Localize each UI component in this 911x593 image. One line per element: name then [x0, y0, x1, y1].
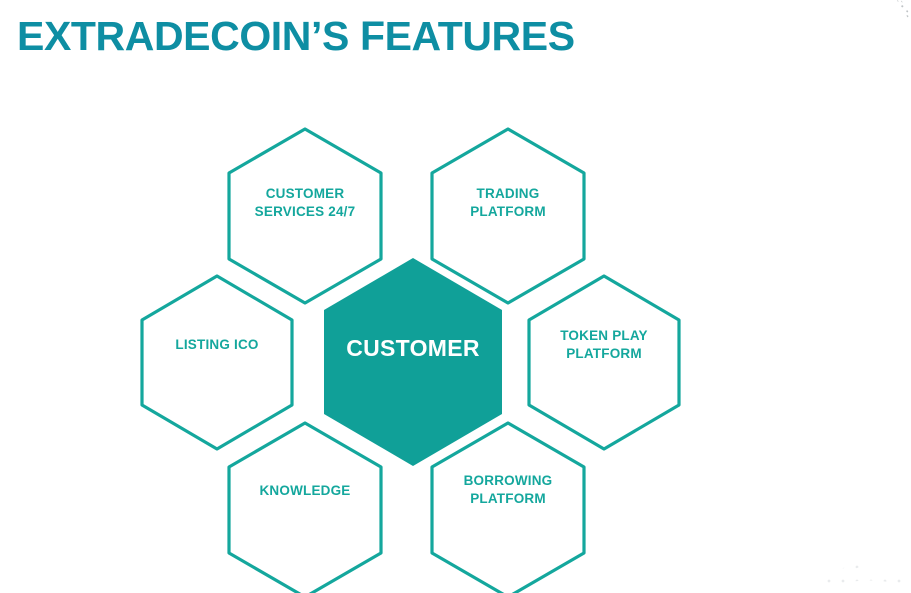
hex-node-label-line1: TRADING — [477, 186, 540, 201]
hex-node-label-line2: PLATFORM — [470, 491, 546, 506]
hex-node-label-line1: KNOWLEDGE — [259, 483, 350, 498]
hex-node-label-line2: PLATFORM — [566, 346, 642, 361]
hexagon-shape — [229, 423, 381, 593]
hex-node-customer-services[interactable]: CUSTOMER SERVICES 24/7 — [229, 129, 381, 303]
hexagon-shape-filled — [324, 258, 502, 466]
hex-node-label-line1: LISTING ICO — [175, 337, 258, 352]
slide-canvas: EXTRADECOIN’S FEATURES CUSTOMER SERVICES… — [0, 0, 911, 593]
hex-node-knowledge[interactable]: KNOWLEDGE — [229, 423, 381, 593]
hexagon-shape — [432, 423, 584, 593]
hex-node-token-play-platform[interactable]: TOKEN PLAY PLATFORM — [529, 276, 679, 449]
hexagon-shape — [529, 276, 679, 449]
hex-node-label-line1: TOKEN PLAY — [560, 328, 648, 343]
hex-node-customer-center[interactable]: CUSTOMER — [324, 258, 502, 466]
hex-node-label-line1: CUSTOMER — [266, 186, 345, 201]
hex-node-borrowing-platform[interactable]: BORROWING PLATFORM — [432, 423, 584, 593]
hexagon-shape — [142, 276, 292, 449]
hex-node-label-line2: PLATFORM — [470, 204, 546, 219]
hex-center-label: CUSTOMER — [346, 335, 480, 361]
features-hexagon-diagram: CUSTOMER SERVICES 24/7 TRADING PLATFORM … — [0, 0, 911, 593]
hex-node-label-line2: SERVICES 24/7 — [255, 204, 356, 219]
hex-node-label-line1: BORROWING — [464, 473, 553, 488]
hex-node-listing-ico[interactable]: LISTING ICO — [142, 276, 292, 449]
hex-node-trading-platform[interactable]: TRADING PLATFORM — [432, 129, 584, 303]
